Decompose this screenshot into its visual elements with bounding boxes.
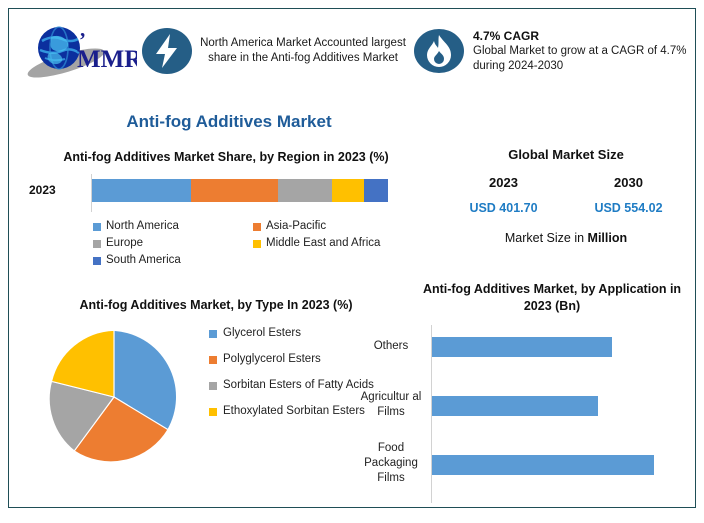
gms-unit-bold: Million <box>588 231 628 245</box>
type-pie-chart <box>43 326 185 468</box>
application-category-label: Food Packaging Films <box>355 441 427 486</box>
application-bar-agricultural-films <box>432 396 598 416</box>
pie-legend-item-polyglycerol-esters: Polyglycerol Esters <box>209 352 405 367</box>
region-segment-europe <box>278 179 331 202</box>
header-highlight-north-america: North America Market Accounted largest s… <box>141 25 413 77</box>
infographic-frame: ’ MMR North America Market Accounted lar… <box>8 8 696 508</box>
legend-swatch-icon <box>93 223 101 231</box>
application-chart: Anti-fog Additives Market, by Applicatio… <box>409 281 695 503</box>
application-bar-others <box>432 337 612 357</box>
application-row-agricultural-films: Agricultur al Films <box>409 384 695 443</box>
global-market-size-unit: Market Size in Million <box>441 231 691 245</box>
legend-label: Asia-Pacific <box>266 218 326 235</box>
region-share-chart: Anti-fog Additives Market Share, by Regi… <box>23 149 429 269</box>
legend-item-middle-east-africa: Middle East and Africa <box>253 235 413 252</box>
legend-swatch-icon <box>93 257 101 265</box>
application-row-others: Others <box>409 325 695 384</box>
legend-item-south-america: South America <box>93 252 253 269</box>
legend-swatch-icon <box>253 223 261 231</box>
legend-label: South America <box>106 252 181 269</box>
application-bar-food-packaging-films <box>432 455 654 475</box>
region-category-label: 2023 <box>29 183 56 197</box>
lightning-bolt-icon <box>141 25 193 77</box>
header-highlight-cagr: 4.7% CAGR Global Market to grow at a CAG… <box>413 25 695 77</box>
header-highlight-text: North America Market Accounted largest s… <box>193 36 413 66</box>
global-market-size-values: USD 401.70 USD 554.02 <box>441 201 691 215</box>
region-stacked-bar <box>92 179 388 202</box>
legend-swatch-icon <box>93 240 101 248</box>
legend-label: Glycerol Esters <box>223 326 301 341</box>
gms-year-2030: 2030 <box>614 175 643 190</box>
legend-swatch-icon <box>253 240 261 248</box>
legend-swatch-icon <box>209 330 217 338</box>
global-market-size-title: Global Market Size <box>441 147 691 162</box>
application-chart-title: Anti-fog Additives Market, by Applicatio… <box>409 281 695 315</box>
type-chart-plot: Glycerol Esters Polyglycerol Esters Sorb… <box>21 320 411 480</box>
application-category-label: Others <box>355 339 427 354</box>
legend-item-asia-pacific: Asia-Pacific <box>253 218 413 235</box>
gms-value-2030: USD 554.02 <box>594 201 662 215</box>
global-market-size-panel: Global Market Size 2023 2030 USD 401.70 … <box>441 147 691 245</box>
legend-label: Europe <box>106 235 143 252</box>
gms-year-2023: 2023 <box>489 175 518 190</box>
legend-label: Middle East and Africa <box>266 235 380 252</box>
legend-label: Polyglycerol Esters <box>223 352 321 367</box>
mmr-globe-logo: ’ MMR <box>21 23 137 79</box>
region-chart-plot: 2023 <box>23 174 429 212</box>
region-segment-south-america <box>364 179 388 202</box>
legend-label: Ethoxylated Sorbitan Esters <box>223 404 365 419</box>
region-chart-legend: North America Asia-Pacific Europe Middle… <box>93 218 413 269</box>
gms-value-2023: USD 401.70 <box>469 201 537 215</box>
legend-swatch-icon <box>209 408 217 416</box>
cagr-headline: 4.7% CAGR <box>473 29 689 44</box>
legend-label: Sorbitan Esters of Fatty Acids <box>223 378 374 393</box>
legend-item-europe: Europe <box>93 235 253 252</box>
header-cagr-text-block: 4.7% CAGR Global Market to grow at a CAG… <box>465 29 695 74</box>
flame-icon <box>413 25 465 77</box>
region-segment-asia-pacific <box>191 179 278 202</box>
header-band: ’ MMR North America Market Accounted lar… <box>9 9 695 93</box>
application-chart-plot: Others Agricultur al Films Food Packagin… <box>409 325 695 503</box>
page-title: Anti-fog Additives Market <box>9 112 449 132</box>
global-market-size-years: 2023 2030 <box>441 175 691 190</box>
region-segment-middle-east-africa <box>332 179 365 202</box>
legend-label: North America <box>106 218 179 235</box>
infographic-canvas: ’ MMR North America Market Accounted lar… <box>0 0 704 523</box>
type-share-chart: Anti-fog Additives Market, by Type In 20… <box>21 297 411 480</box>
gms-unit-prefix: Market Size in <box>505 231 588 245</box>
application-category-label: Agricultur al Films <box>355 390 427 420</box>
region-chart-title: Anti-fog Additives Market Share, by Regi… <box>23 149 429 166</box>
legend-swatch-icon <box>209 382 217 390</box>
legend-item-north-america: North America <box>93 218 253 235</box>
type-chart-title: Anti-fog Additives Market, by Type In 20… <box>21 297 411 314</box>
legend-swatch-icon <box>209 356 217 364</box>
svg-text:MMR: MMR <box>77 46 137 73</box>
cagr-subtext: Global Market to grow at a CAGR of 4.7% … <box>473 44 689 74</box>
application-row-food-packaging-films: Food Packaging Films <box>409 443 695 502</box>
region-segment-north-america <box>92 179 191 202</box>
brand-logo: ’ MMR <box>9 23 141 79</box>
